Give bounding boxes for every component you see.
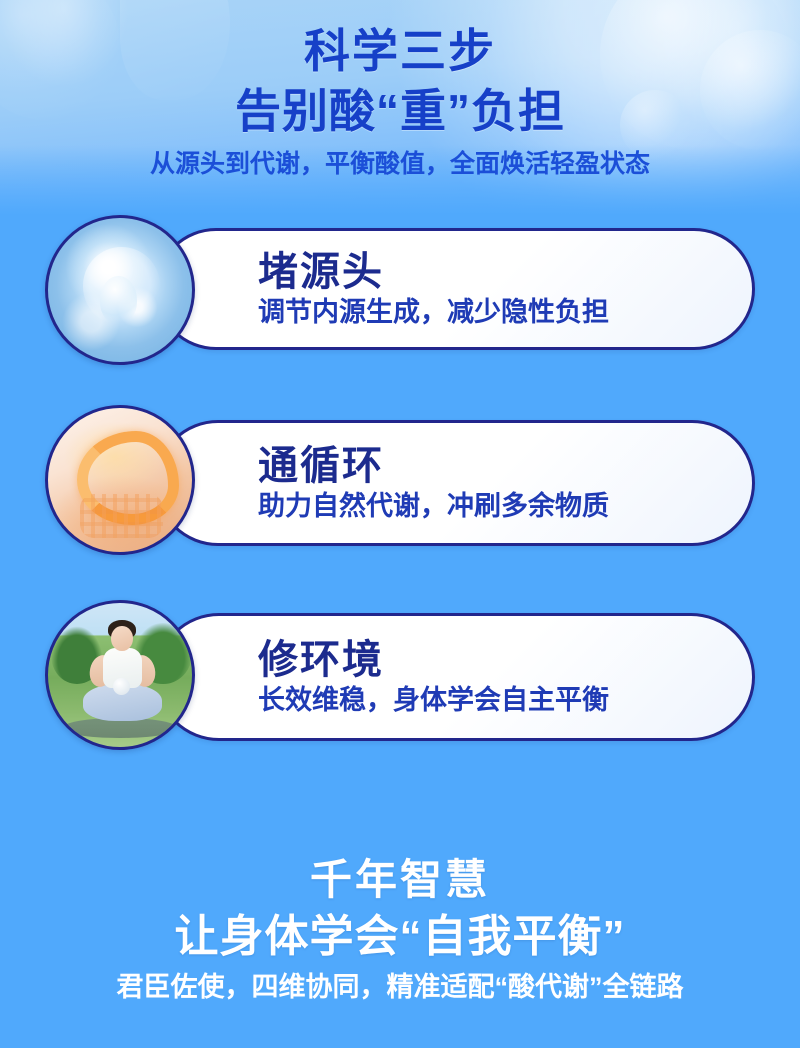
footer-subtitle: 君臣佐使，四维协同，精准适配“酸代谢”全链路 xyxy=(0,964,800,1004)
header-block: 科学三步 告别酸“重”负担 从源头到代谢，平衡酸值，全面焕活轻盈状态 xyxy=(0,0,800,179)
steps-list: 堵源头 调节内源生成，减少隐性负担 通循环 助力自然代谢，冲刷多余物质 修环境 … xyxy=(0,215,800,795)
water-droplet-icon xyxy=(45,215,195,365)
step-title-2: 通循环 xyxy=(258,444,726,488)
step-desc-1: 调节内源生成，减少隐性负担 xyxy=(258,296,726,328)
figure-hands-ball xyxy=(113,678,130,695)
header-title-line2: 告别酸“重”负担 xyxy=(0,76,800,138)
step-title-3: 修环境 xyxy=(258,638,726,682)
header-subtitle: 从源头到代谢，平衡酸值，全面焕活轻盈状态 xyxy=(0,138,800,179)
step-text-3: 修环境 长效维稳，身体学会自主平衡 xyxy=(258,616,726,738)
digestive-organ-icon xyxy=(45,405,195,555)
step-desc-2: 助力自然代谢，冲刷多余物质 xyxy=(258,490,726,522)
header-title-line1: 科学三步 xyxy=(0,0,800,76)
step-card-2[interactable]: 通循环 助力自然代谢，冲刷多余物质 xyxy=(0,400,800,600)
footer-title-line2: 让身体学会“自我平衡” xyxy=(0,905,800,964)
step-desc-3: 长效维稳，身体学会自主平衡 xyxy=(258,684,726,716)
step-pill-2: 通循环 助力自然代谢，冲刷多余物质 xyxy=(155,420,755,546)
step-card-3[interactable]: 修环境 长效维稳，身体学会自主平衡 xyxy=(0,600,800,795)
footer-title-line1: 千年智慧 xyxy=(0,855,800,905)
figure-head xyxy=(111,626,133,650)
yoga-mat-shape xyxy=(62,718,177,738)
yoga-meditation-icon xyxy=(45,600,195,750)
footer-block: 千年智慧 让身体学会“自我平衡” 君臣佐使，四维协同，精准适配“酸代谢”全链路 xyxy=(0,855,800,1004)
step-text-1: 堵源头 调节内源生成，减少隐性负担 xyxy=(258,231,726,347)
step-pill-3: 修环境 长效维稳，身体学会自主平衡 xyxy=(155,613,755,741)
step-text-2: 通循环 助力自然代谢，冲刷多余物质 xyxy=(258,423,726,543)
step-pill-1: 堵源头 调节内源生成，减少隐性负担 xyxy=(155,228,755,350)
step-title-1: 堵源头 xyxy=(258,250,726,294)
step-card-1[interactable]: 堵源头 调节内源生成，减少隐性负担 xyxy=(0,215,800,400)
promo-poster: 科学三步 告别酸“重”负担 从源头到代谢，平衡酸值，全面焕活轻盈状态 堵源头 调… xyxy=(0,0,800,1048)
